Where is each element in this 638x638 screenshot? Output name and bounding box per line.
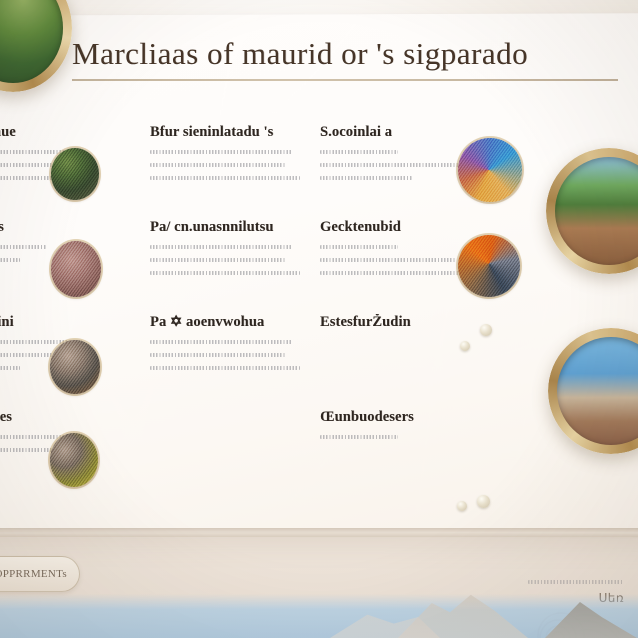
list-item[interactable]: uranIoini	[0, 314, 150, 409]
pearl-thumbnail[interactable]	[477, 495, 490, 508]
column-middle: Bfur sieninlatadu 's Pa/ cn.unasnnilutsu…	[150, 124, 320, 504]
entry-body-text	[150, 150, 320, 180]
coin-thumbnail[interactable]	[51, 148, 99, 200]
pearl-thumbnail[interactable]	[457, 501, 467, 511]
entry-heading: Œunbuodesers	[320, 409, 510, 426]
entry-heading: Pa ✡ aoenvwohua	[150, 314, 320, 331]
entry-heading: Pa/ cn.unasnnilutsu	[150, 219, 320, 236]
list-item[interactable]: Œunbuodesers	[320, 409, 510, 504]
column-left: nd ·s·laue ortcheis uranIoini	[0, 124, 150, 504]
pearl-thumbnail[interactable]	[480, 324, 492, 336]
pearl-thumbnail[interactable]	[460, 341, 470, 351]
entry-body-text	[150, 245, 320, 275]
coin-thumbnail[interactable]	[51, 241, 101, 297]
coin-thumbnail[interactable]	[50, 340, 100, 394]
entry-body-text	[150, 340, 320, 370]
entry-body-text	[320, 435, 510, 439]
entry-heading: ortcheis	[0, 219, 150, 236]
column-right: S.ocoinlai a Gecktenubid EstesfurŽudin	[320, 124, 510, 504]
list-item[interactable]: nd ·s·laue	[0, 124, 150, 219]
content-grid: nd ·s·laue ortcheis uranIoini	[0, 124, 614, 504]
foreground-landscape	[0, 542, 638, 638]
list-item[interactable]: Pa/ cn.unasnnilutsu	[150, 219, 320, 314]
entry-heading: Bfur sieninlatadu 's	[150, 124, 320, 141]
list-item[interactable]: mnunites	[0, 409, 150, 504]
entry-heading: mnunites	[0, 409, 150, 426]
list-item[interactable]: Pa ✡ aoenvwohua	[150, 314, 320, 409]
entry-heading: Gecktenubid	[320, 219, 510, 236]
entry-heading: nd ·s·laue	[0, 124, 150, 141]
foreground-sky	[0, 594, 638, 638]
list-item[interactable]: Gecktenubid	[320, 219, 510, 314]
poster-title-block: Marcliaas of maurid or 's sigparado	[72, 36, 618, 81]
board-bottom-edge	[0, 528, 638, 537]
coin-thumbnail[interactable]	[458, 138, 522, 202]
list-item[interactable]: ortcheis	[0, 219, 150, 314]
coin-thumbnail[interactable]	[50, 433, 98, 487]
page-title: Marcliaas of maurid or 's sigparado	[72, 36, 618, 72]
title-divider	[72, 79, 618, 81]
list-item[interactable]: S.ocoinlai a	[320, 124, 510, 219]
list-item[interactable]: EstesfurŽudin	[320, 314, 510, 409]
list-item	[150, 409, 320, 504]
list-item[interactable]: Bfur sieninlatadu 's	[150, 124, 320, 219]
entry-heading: uranIoini	[0, 314, 150, 331]
scene-backdrop: Marcliaas of maurid or 's sigparado nd ·…	[0, 0, 638, 638]
coin-thumbnail[interactable]	[458, 235, 520, 297]
